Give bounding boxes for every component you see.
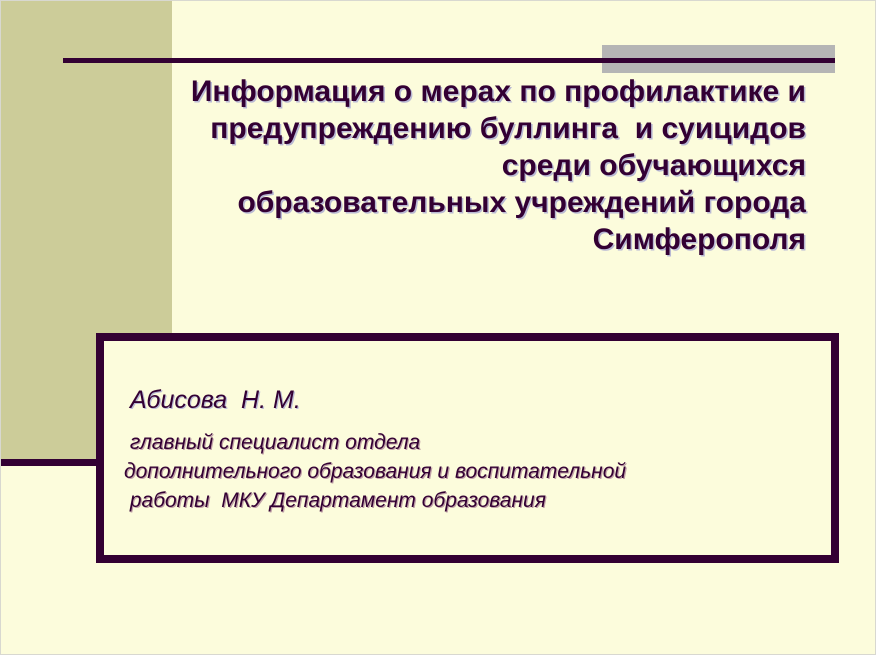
title-line-1: Информация о мерах по профилактике и: [61, 73, 806, 110]
role-line-3: работы МКУ Департамент образования: [124, 486, 821, 515]
title-line-2: предупреждению буллинга и суицидов: [61, 110, 806, 147]
role-line-1: главный специалист отдела: [124, 428, 821, 457]
subtitle-content: Абисова Н. М. главный специалист отдела …: [124, 383, 821, 515]
title-top-rule: [63, 58, 835, 63]
role-line-2: дополнительного образования и воспитател…: [124, 457, 821, 486]
subtitle-frame: Абисова Н. М. главный специалист отдела …: [96, 333, 839, 563]
author-role: главный специалист отдела дополнительног…: [124, 428, 821, 515]
title-line-4: образовательных учреждений города: [61, 184, 806, 221]
author-name: Абисова Н. М.: [130, 383, 821, 417]
olive-column-underline: [1, 459, 104, 466]
title-line-3: среди обучающихся: [61, 147, 806, 184]
slide-title: Информация о мерах по профилактике и пре…: [61, 73, 806, 258]
presentation-slide: Информация о мерах по профилактике и пре…: [0, 0, 876, 655]
title-line-5: Симферополя: [61, 221, 806, 258]
